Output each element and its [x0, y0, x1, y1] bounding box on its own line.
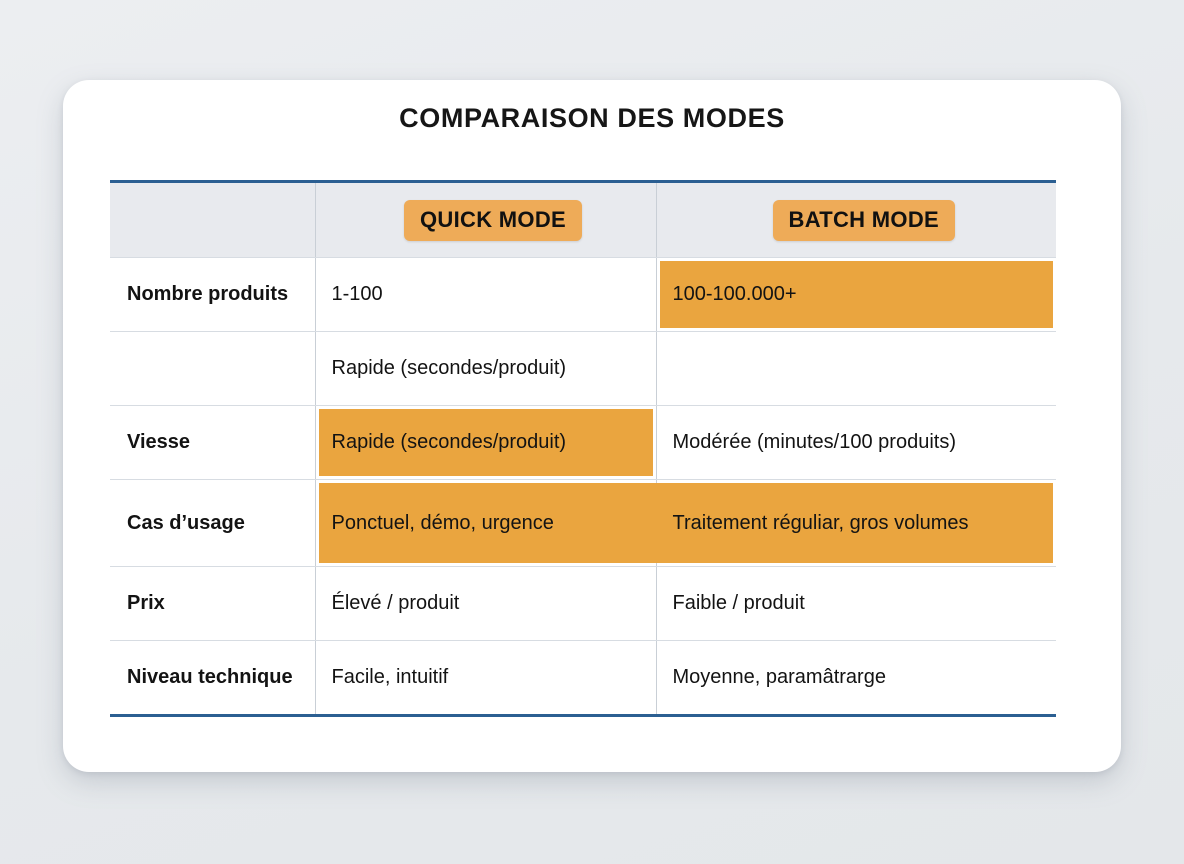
- row-batch-cell: 100-100.000+: [656, 258, 1056, 332]
- table-row: Cas d’usage Ponctuel, démo, urgence Trai…: [110, 480, 1056, 567]
- row-quick-cell: Ponctuel, démo, urgence: [315, 480, 656, 567]
- row-quick-text: Élevé / produit: [316, 591, 656, 616]
- row-batch-text: [657, 368, 1057, 369]
- row-batch-cell: [656, 332, 1056, 406]
- row-quick-cell: Élevé / produit: [315, 567, 656, 641]
- table-row: Niveau technique Facile, intuitif Moyenn…: [110, 641, 1056, 716]
- row-batch-cell: Faible / produit: [656, 567, 1056, 641]
- row-label-text: Cas d’usage: [110, 511, 315, 536]
- row-label-cell: Niveau technique: [110, 641, 315, 716]
- table-header-row: QUICK MODE BATCH MODE: [110, 182, 1056, 258]
- row-label-text: Nombre produits: [110, 282, 315, 307]
- row-batch-cell: Traitement réguliar, gros volumes: [656, 480, 1056, 567]
- row-label-text: Viesse: [110, 430, 315, 455]
- table-row: Viesse Rapide (secondes/produit) Modérée…: [110, 406, 1056, 480]
- row-batch-text: Modérée (minutes/100 produits): [657, 430, 1057, 455]
- row-label-cell: Nombre produits: [110, 258, 315, 332]
- table-header: QUICK MODE BATCH MODE: [110, 182, 1056, 258]
- row-batch-cell: Moyenne, paramâtrarge: [656, 641, 1056, 716]
- row-batch-cell: Modérée (minutes/100 produits): [656, 406, 1056, 480]
- row-batch-text: Faible / produit: [657, 591, 1057, 616]
- table-row: Nombre produits 1-100 100-100.000+: [110, 258, 1056, 332]
- quick-mode-badge: QUICK MODE: [404, 200, 582, 241]
- row-quick-text: Rapide (secondes/produit): [316, 356, 656, 381]
- row-quick-text: Ponctuel, démo, urgence: [316, 511, 656, 536]
- row-label-text: Niveau technique: [110, 665, 315, 690]
- row-batch-text: Traitement réguliar, gros volumes: [657, 511, 1057, 536]
- row-batch-text: Moyenne, paramâtrarge: [657, 665, 1057, 690]
- column-header-batch-mode: BATCH MODE: [656, 182, 1056, 258]
- row-label-text: Prix: [110, 591, 315, 616]
- row-quick-cell: Facile, intuitif: [315, 641, 656, 716]
- row-batch-text: 100-100.000+: [657, 282, 1057, 307]
- row-label-text: [110, 368, 315, 369]
- row-quick-cell: Rapide (secondes/produit): [315, 332, 656, 406]
- row-quick-text: 1-100: [316, 282, 656, 307]
- column-header-label: [110, 182, 315, 258]
- slide-stage: COMPARAISON DES MODES QUICK MODE BATCH M…: [0, 0, 1184, 864]
- table-row: Rapide (secondes/produit): [110, 332, 1056, 406]
- column-header-quick-mode: QUICK MODE: [315, 182, 656, 258]
- row-quick-cell: Rapide (secondes/produit): [315, 406, 656, 480]
- row-label-cell: Viesse: [110, 406, 315, 480]
- row-label-cell: [110, 332, 315, 406]
- slide-card: COMPARAISON DES MODES QUICK MODE BATCH M…: [63, 80, 1121, 772]
- table-row: Prix Élevé / produit Faible / produit: [110, 567, 1056, 641]
- comparison-table: QUICK MODE BATCH MODE Nombre produits 1-…: [110, 180, 1056, 717]
- row-quick-text: Rapide (secondes/produit): [316, 430, 656, 455]
- table-body: Nombre produits 1-100 100-100.000+: [110, 258, 1056, 716]
- page-title: COMPARAISON DES MODES: [63, 103, 1121, 134]
- row-quick-cell: 1-100: [315, 258, 656, 332]
- row-label-cell: Prix: [110, 567, 315, 641]
- row-quick-text: Facile, intuitif: [316, 665, 656, 690]
- row-label-cell: Cas d’usage: [110, 480, 315, 567]
- batch-mode-badge: BATCH MODE: [773, 200, 955, 241]
